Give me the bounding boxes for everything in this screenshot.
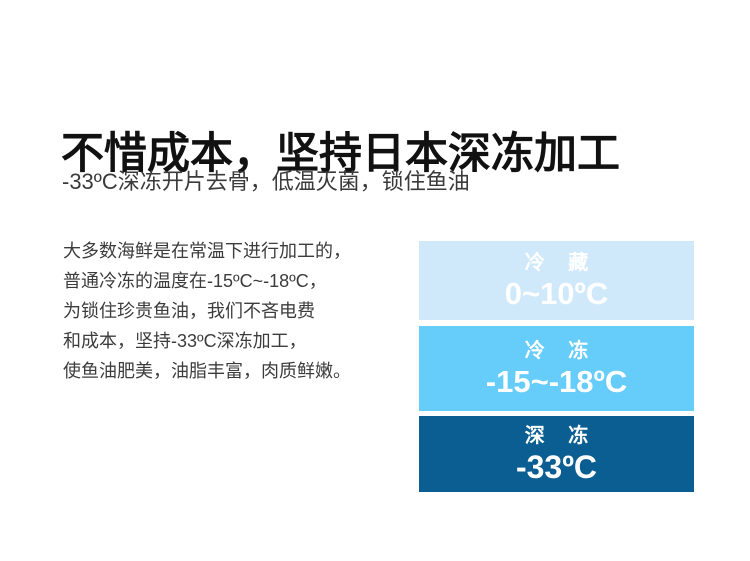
description-paragraph: 大多数海鲜是在常温下进行加工的， 普通冷冻的温度在-15ºC~-18ºC， 为锁… [63, 236, 413, 386]
description-line: 为锁住珍贵鱼油，我们不吝电费 [63, 296, 413, 326]
temperature-panel-deep-frozen: 深 冻 -33ºC [419, 416, 694, 492]
temperature-panel-value: -15~-18ºC [486, 364, 627, 400]
description-line: 普通冷冻的温度在-15ºC~-18ºC， [63, 266, 413, 296]
temperature-panel-group: 冷 藏 0~10ºC 冷 冻 -15~-18ºC 深 冻 -33ºC [419, 241, 694, 492]
temperature-panel-label: 深 冻 [516, 423, 598, 449]
promo-banner: 不惜成本，坚持日本深冻加工 -33ºC深冻开片去骨，低温灭菌，锁住鱼油 大多数海… [0, 0, 750, 561]
temperature-panel-value: 0~10ºC [505, 276, 609, 312]
description-line: 使鱼油肥美，油脂丰富，肉质鲜嫩。 [63, 356, 413, 386]
description-line: 和成本，坚持-33ºC深冻加工， [63, 326, 413, 356]
page-subtitle: -33ºC深冻开片去骨，低温灭菌，锁住鱼油 [62, 166, 470, 198]
temperature-panel-chilled: 冷 藏 0~10ºC [419, 241, 694, 320]
temperature-panel-frozen: 冷 冻 -15~-18ºC [419, 326, 694, 411]
temperature-panel-label: 冷 藏 [516, 250, 598, 276]
temperature-panel-label: 冷 冻 [516, 338, 598, 364]
description-line: 大多数海鲜是在常温下进行加工的， [63, 236, 413, 266]
temperature-panel-value: -33ºC [516, 449, 597, 485]
